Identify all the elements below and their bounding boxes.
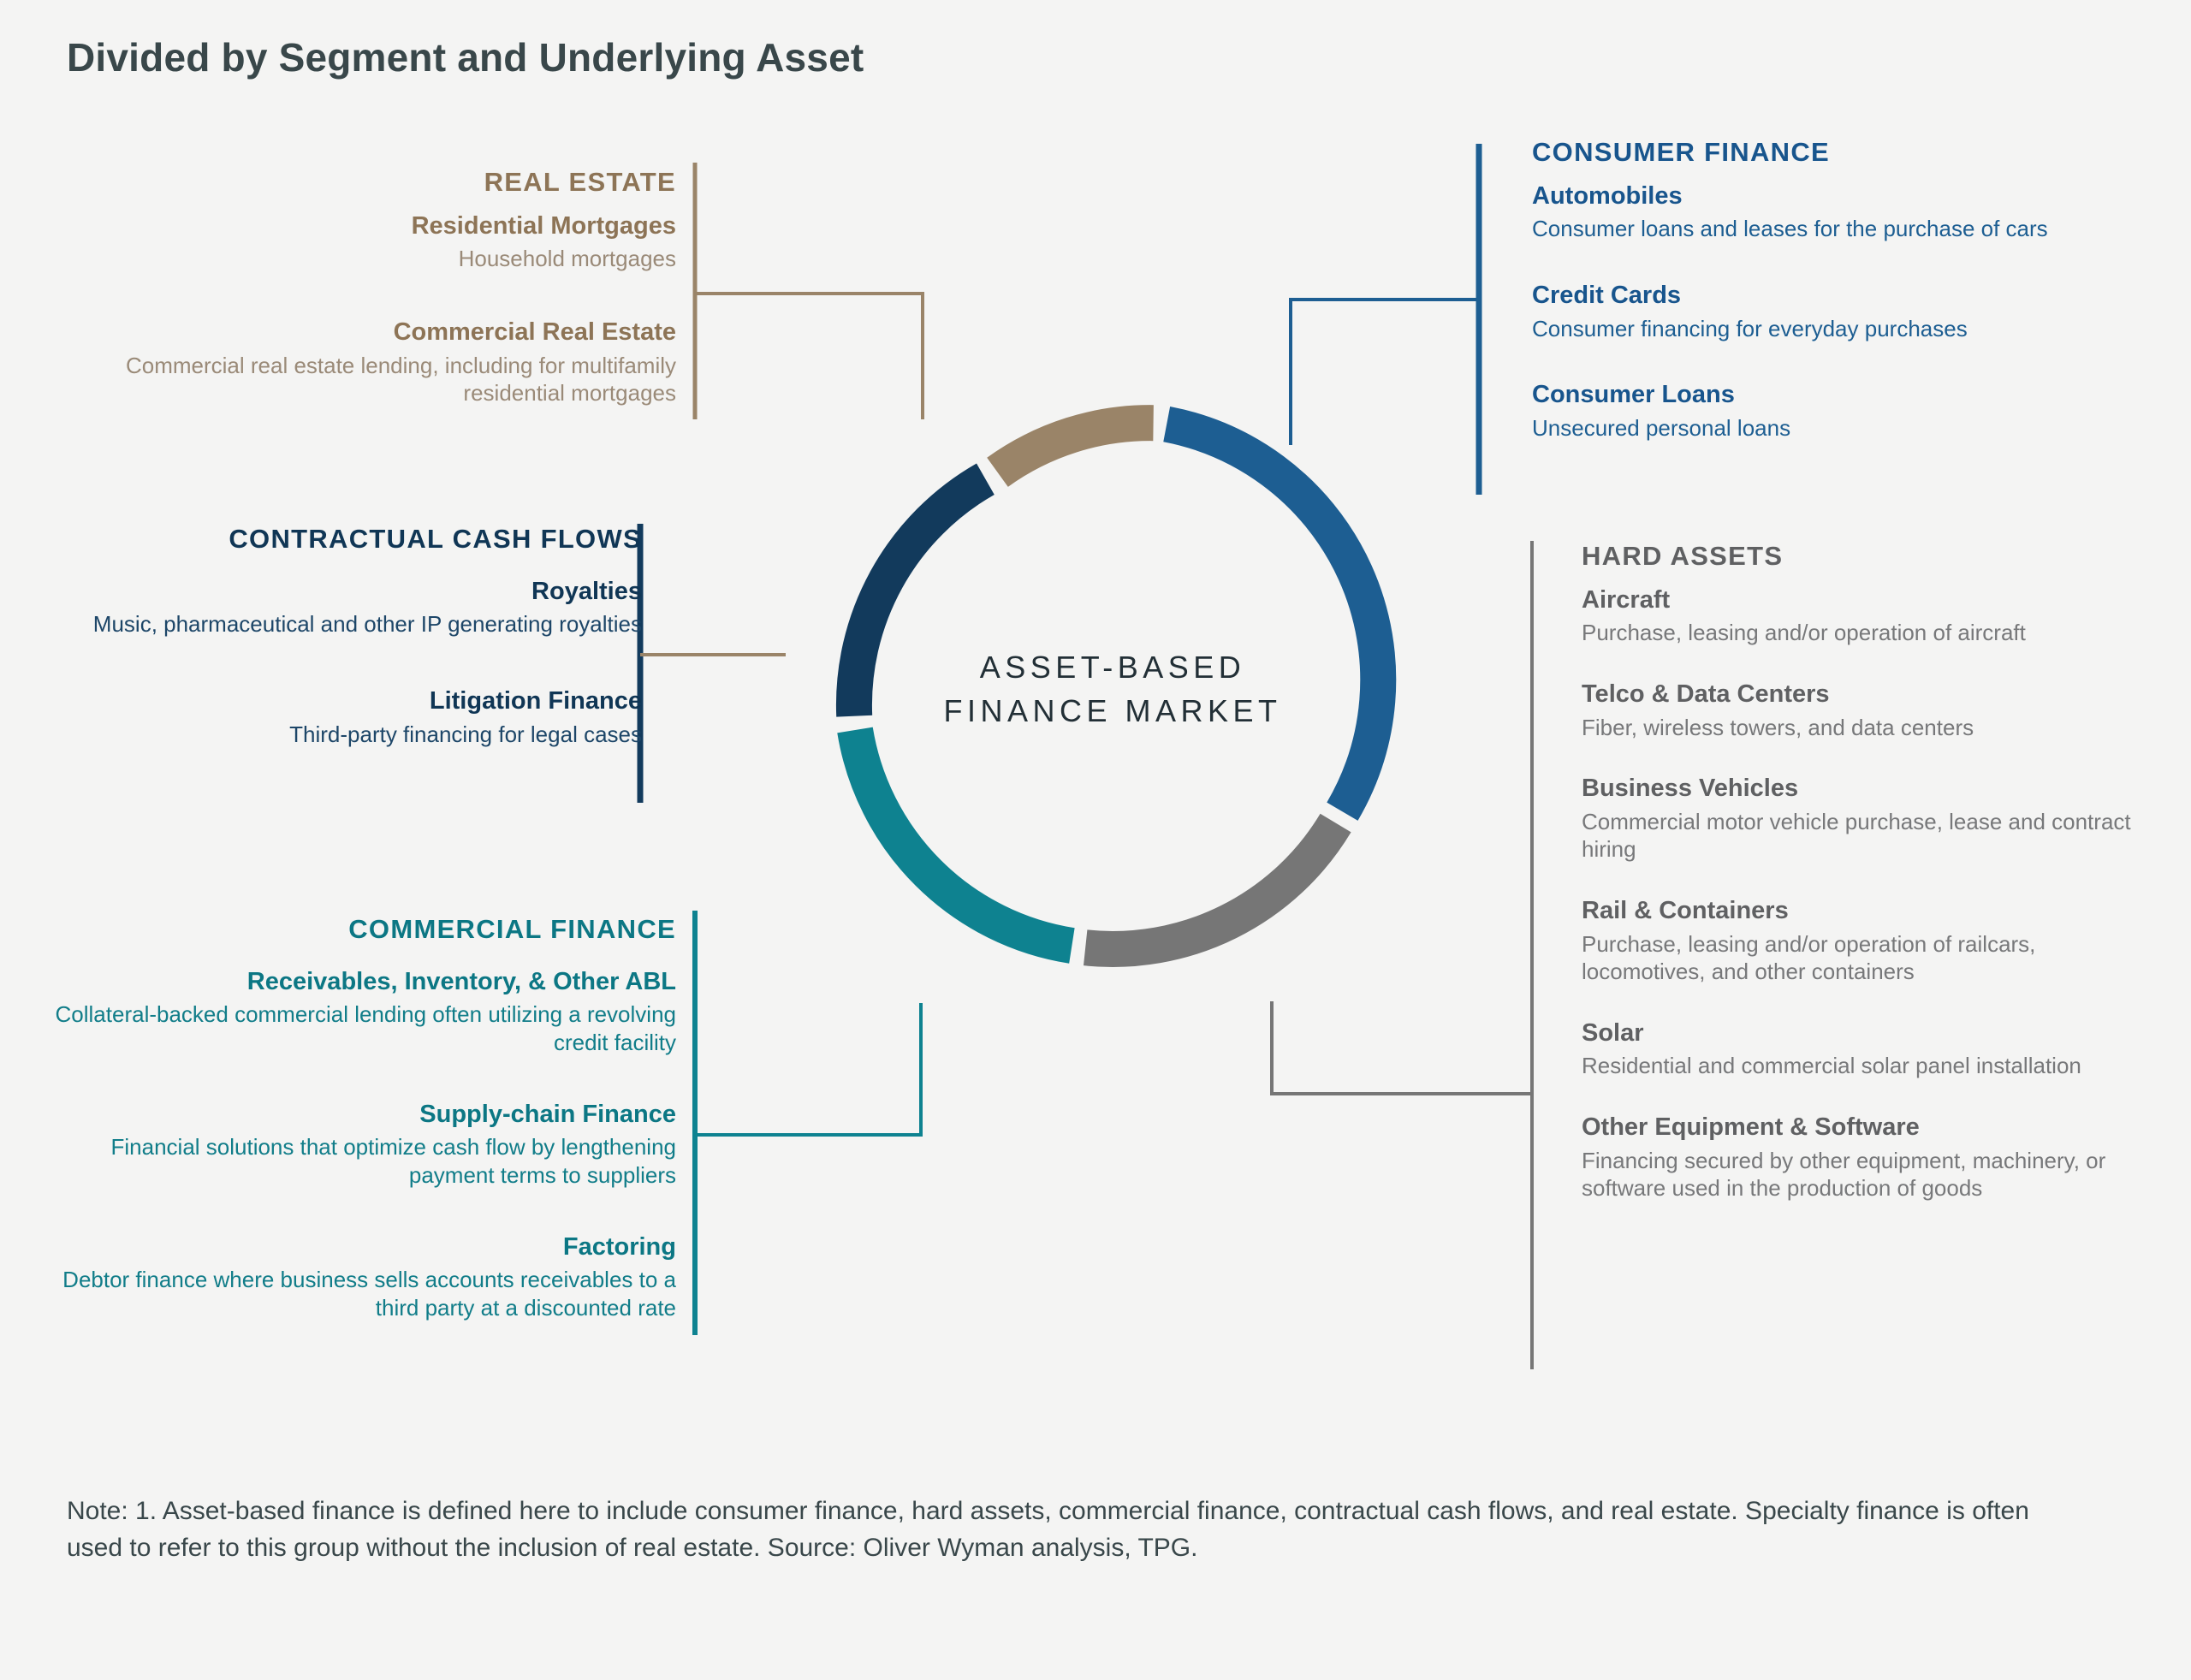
asset-desc: Music, pharmaceutical and other IP gener… xyxy=(34,610,642,638)
asset-name: Automobiles xyxy=(1532,181,2131,211)
page-title: Divided by Segment and Underlying Asset xyxy=(67,34,864,80)
asset-desc: Unsecured personal loans xyxy=(1532,414,2131,442)
asset-item: Commercial Real Estate Commercial real e… xyxy=(51,318,676,407)
asset-name: Business Vehicles xyxy=(1582,774,2164,804)
donut-segment-hard-assets xyxy=(1085,823,1335,949)
asset-desc: Consumer financing for everyday purchase… xyxy=(1532,315,2131,343)
asset-item: Telco & Data Centers Fiber, wireless tow… xyxy=(1582,680,2164,741)
asset-name: Litigation Finance xyxy=(34,686,642,716)
asset-desc: Collateral-backed commercial lending oft… xyxy=(51,1000,676,1057)
infographic-canvas: Divided by Segment and Underlying Asset xyxy=(0,0,2191,1680)
asset-item: Business Vehicles Commercial motor vehic… xyxy=(1582,774,2164,864)
asset-name: Rail & Containers xyxy=(1582,896,2164,926)
asset-desc: Residential and commercial solar panel i… xyxy=(1582,1052,2164,1080)
asset-name: Telco & Data Centers xyxy=(1582,680,2164,709)
asset-item: Royalties Music, pharmaceutical and othe… xyxy=(34,577,642,638)
asset-item: Consumer Loans Unsecured personal loans xyxy=(1532,380,2131,442)
asset-desc: Commercial real estate lending, includin… xyxy=(51,352,676,408)
asset-name: Commercial Real Estate xyxy=(51,318,676,347)
asset-desc: Commercial motor vehicle purchase, lease… xyxy=(1582,808,2164,864)
segment-title-contractual-cash-flows: CONTRACTUAL CASH FLOWS xyxy=(34,524,642,555)
asset-item: Factoring Debtor finance where business … xyxy=(51,1232,676,1322)
asset-name: Receivables, Inventory, & Other ABL xyxy=(51,967,676,997)
asset-name: Residential Mortgages xyxy=(51,211,676,241)
asset-name: Solar xyxy=(1582,1018,2164,1048)
asset-desc: Purchase, leasing and/or operation of ra… xyxy=(1582,930,2164,987)
segment-panel-hard-assets: HARD ASSETS Aircraft Purchase, leasing a… xyxy=(1582,541,2164,1228)
segment-title-consumer-finance: CONSUMER FINANCE xyxy=(1532,137,2131,168)
donut-chart: ASSET-BASED FINANCE MARKET xyxy=(817,394,1408,984)
donut-segment-consumer-finance xyxy=(1167,424,1378,812)
asset-desc: Purchase, leasing and/or operation of ai… xyxy=(1582,619,2164,647)
segment-title-commercial-finance: COMMERCIAL FINANCE xyxy=(51,914,676,945)
asset-item: Solar Residential and commercial solar p… xyxy=(1582,1018,2164,1080)
segment-panel-consumer-finance: CONSUMER FINANCE Automobiles Consumer lo… xyxy=(1532,137,2131,467)
donut-segment-contractual-cash-flows xyxy=(854,479,985,716)
asset-item: Rail & Containers Purchase, leasing and/… xyxy=(1582,896,2164,986)
asset-desc: Fiber, wireless towers, and data centers xyxy=(1582,714,2164,742)
asset-item: Supply-chain Finance Financial solutions… xyxy=(51,1100,676,1190)
segment-panel-contractual-cash-flows: CONTRACTUAL CASH FLOWS Royalties Music, … xyxy=(34,524,642,774)
asset-desc: Financing secured by other equipment, ma… xyxy=(1582,1147,2164,1203)
donut-svg xyxy=(817,394,1408,984)
asset-name: Aircraft xyxy=(1582,585,2164,615)
donut-segment-real-estate xyxy=(998,423,1154,472)
asset-item: Credit Cards Consumer financing for ever… xyxy=(1532,281,2131,342)
segment-panel-commercial-finance: COMMERCIAL FINANCE Receivables, Inventor… xyxy=(51,914,676,1348)
asset-desc: Third-party financing for legal cases xyxy=(34,721,642,749)
asset-item: Residential Mortgages Household mortgage… xyxy=(51,211,676,273)
asset-desc: Household mortgages xyxy=(51,245,676,273)
asset-item: Receivables, Inventory, & Other ABL Coll… xyxy=(51,967,676,1057)
asset-item: Litigation Finance Third-party financing… xyxy=(34,686,642,748)
segment-title-real-estate: REAL ESTATE xyxy=(51,167,676,198)
asset-desc: Financial solutions that optimize cash f… xyxy=(51,1133,676,1190)
footnote-text: Note: 1. Asset-based finance is defined … xyxy=(67,1493,2061,1566)
donut-segment-commercial-finance xyxy=(855,730,1072,946)
segment-title-hard-assets: HARD ASSETS xyxy=(1582,541,2164,572)
asset-name: Royalties xyxy=(34,577,642,607)
asset-name: Other Equipment & Software xyxy=(1582,1113,2164,1143)
asset-desc: Debtor finance where business sells acco… xyxy=(51,1266,676,1322)
asset-item: Aircraft Purchase, leasing and/or operat… xyxy=(1582,585,2164,647)
asset-name: Consumer Loans xyxy=(1532,380,2131,410)
asset-item: Other Equipment & Software Financing sec… xyxy=(1582,1113,2164,1202)
asset-name: Credit Cards xyxy=(1532,281,2131,311)
asset-desc: Consumer loans and leases for the purcha… xyxy=(1532,215,2131,243)
asset-name: Factoring xyxy=(51,1232,676,1262)
asset-name: Supply-chain Finance xyxy=(51,1100,676,1130)
asset-item: Automobiles Consumer loans and leases fo… xyxy=(1532,181,2131,243)
segment-panel-real-estate: REAL ESTATE Residential Mortgages Househ… xyxy=(51,167,676,433)
